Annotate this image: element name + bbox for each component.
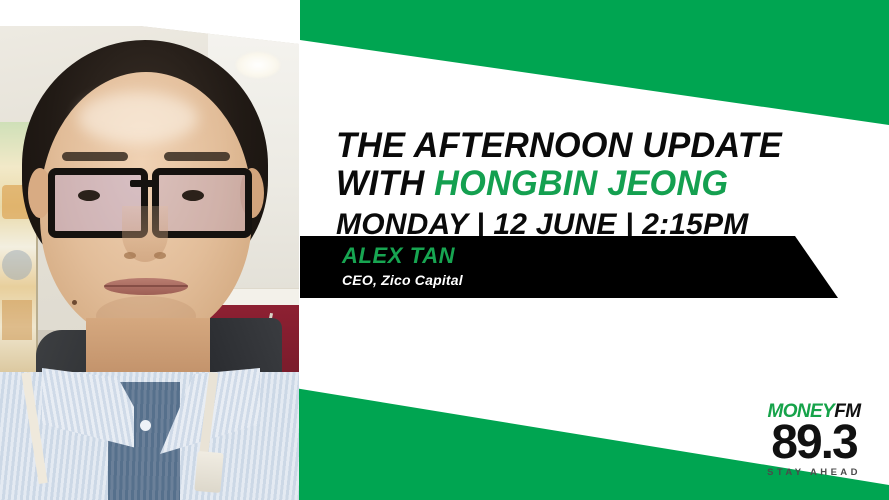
photo-nostril <box>154 252 166 259</box>
guest-photo-image <box>0 0 299 500</box>
photo-mouth-line <box>104 285 188 287</box>
photo-shirt-button <box>140 420 151 431</box>
broadcast-promo-card: THE AFTERNOON UPDATE WITH HONGBIN JEONG … <box>0 0 889 500</box>
guest-photo <box>0 0 299 500</box>
logo-tagline: STAY AHEAD <box>755 467 873 478</box>
guest-role: CEO, Zico Capital <box>342 272 463 288</box>
photo-id-badge <box>194 451 223 493</box>
photo-nostril <box>124 252 136 259</box>
photo-eyeglasses-bridge <box>130 180 156 187</box>
green-wedge-top <box>300 0 889 130</box>
photo-poster-block <box>2 300 32 340</box>
photo-forehead-highlight <box>78 92 198 144</box>
guest-name: ALEX TAN <box>342 243 455 269</box>
show-title-line1: THE AFTERNOON UPDATE <box>336 127 846 165</box>
photo-ceiling-light <box>236 52 280 78</box>
show-host-name: HONGBIN JEONG <box>434 164 728 203</box>
photo-poster-block <box>2 250 32 280</box>
photo-eyebrow <box>164 152 230 161</box>
photo-eyebrow <box>62 152 128 161</box>
photo-eye <box>78 190 100 201</box>
show-title-line2: WITH HONGBIN JEONG <box>336 165 846 203</box>
photo-eye <box>182 190 204 201</box>
show-title-block: THE AFTERNOON UPDATE WITH HONGBIN JEONG … <box>336 127 856 244</box>
logo-frequency: 89.3 <box>755 420 873 466</box>
show-title-with: WITH <box>336 164 434 203</box>
moneyfm-logo: MONEYFM 89.3 STAY AHEAD <box>755 402 873 478</box>
photo-mole <box>72 300 77 305</box>
guest-banner: ALEX TAN CEO, Zico Capital <box>300 236 840 298</box>
